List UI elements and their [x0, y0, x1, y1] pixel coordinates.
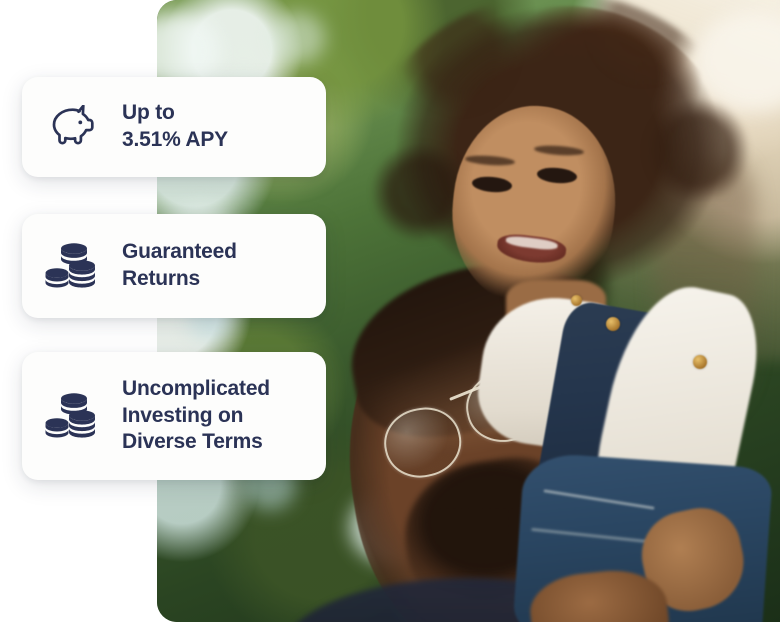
feature-card-title: Uncomplicated Investing on Diverse Terms	[122, 376, 270, 456]
feature-card-investing[interactable]: Uncomplicated Investing on Diverse Terms	[22, 352, 326, 480]
coin-stacks-icon	[44, 391, 100, 441]
feature-card-apy[interactable]: Up to 3.51% APY	[22, 77, 326, 177]
feature-card-title: Guaranteed Returns	[122, 239, 237, 292]
feature-card-returns[interactable]: Guaranteed Returns	[22, 214, 326, 318]
overall-brass-button	[693, 355, 707, 369]
coin-stacks-icon	[44, 241, 100, 291]
feature-card-list: Up to 3.51% APY	[0, 0, 340, 622]
feature-card-title: Up to 3.51% APY	[122, 100, 228, 153]
promo-hero: Up to 3.51% APY	[0, 0, 780, 622]
overall-brass-button	[606, 317, 620, 331]
piggy-bank-icon	[44, 105, 100, 149]
